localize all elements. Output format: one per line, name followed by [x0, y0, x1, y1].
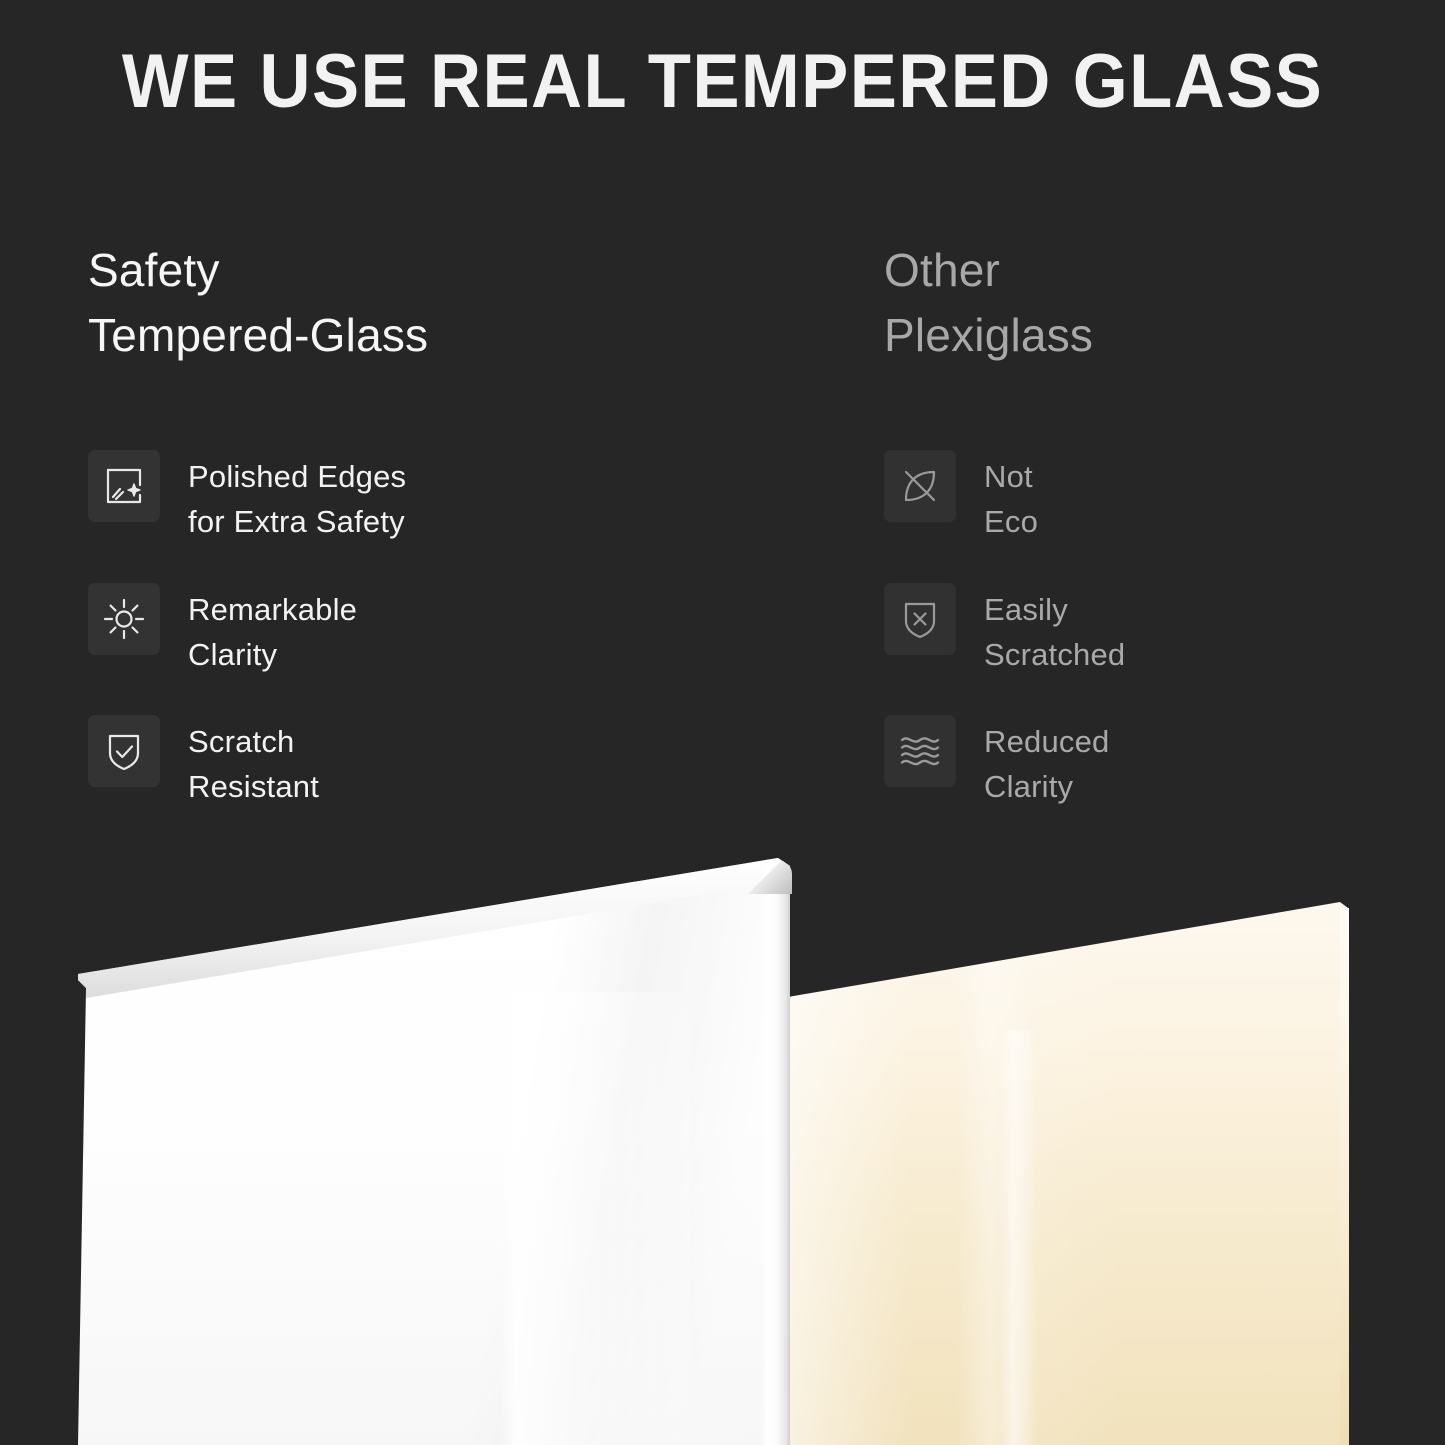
feature-scratch-resistant: Scratch Resistant [88, 715, 788, 810]
plexiglass-panel [788, 902, 1348, 1445]
feature-reduced-clarity: Reduced Clarity [884, 715, 1404, 810]
plexiglass-right-edge [1340, 908, 1349, 1445]
feature-polished-edges: Polished Edges for Extra Safety [88, 450, 788, 545]
feature-remarkable-clarity: Remarkable Clarity [88, 583, 788, 678]
column-plexiglass: Other Plexiglass Not Eco [884, 238, 1404, 369]
product-comparison-infographic: WE USE REAL TEMPERED GLASS Safety Temper… [0, 0, 1445, 1445]
shield-check-icon [88, 715, 160, 787]
feature-list-plexiglass: Not Eco Easily Scratched [884, 450, 1404, 810]
tempered-glass-reflection [500, 992, 690, 1445]
tempered-glass-polished-edge [762, 866, 790, 1445]
feature-list-tempered-glass: Polished Edges for Extra Safety [88, 450, 788, 810]
feature-label-scratch-resistant: Scratch Resistant [188, 715, 319, 810]
plexiglass-reflection [1000, 1030, 1038, 1445]
shield-x-icon [884, 583, 956, 655]
wavy-lines-icon [884, 715, 956, 787]
product-photo [0, 840, 1445, 1445]
feature-label-remarkable-clarity: Remarkable Clarity [188, 583, 357, 678]
leaf-crossed-out-icon [884, 450, 956, 522]
feature-label-reduced-clarity: Reduced Clarity [984, 715, 1110, 810]
feature-label-not-eco: Not Eco [984, 450, 1038, 545]
column-title-plexiglass: Other Plexiglass [884, 238, 1404, 369]
feature-easily-scratched: Easily Scratched [884, 583, 1404, 678]
feature-label-polished-edges: Polished Edges for Extra Safety [188, 450, 406, 545]
column-title-tempered-glass: Safety Tempered-Glass [88, 238, 788, 369]
page-title: WE USE REAL TEMPERED GLASS [51, 38, 1395, 125]
feature-not-eco: Not Eco [884, 450, 1404, 545]
sun-brightness-icon [88, 583, 160, 655]
polished-glass-pane-sparkle-icon [88, 450, 160, 522]
feature-label-easily-scratched: Easily Scratched [984, 583, 1125, 678]
column-tempered-glass: Safety Tempered-Glass Polished Edges for… [88, 238, 788, 369]
